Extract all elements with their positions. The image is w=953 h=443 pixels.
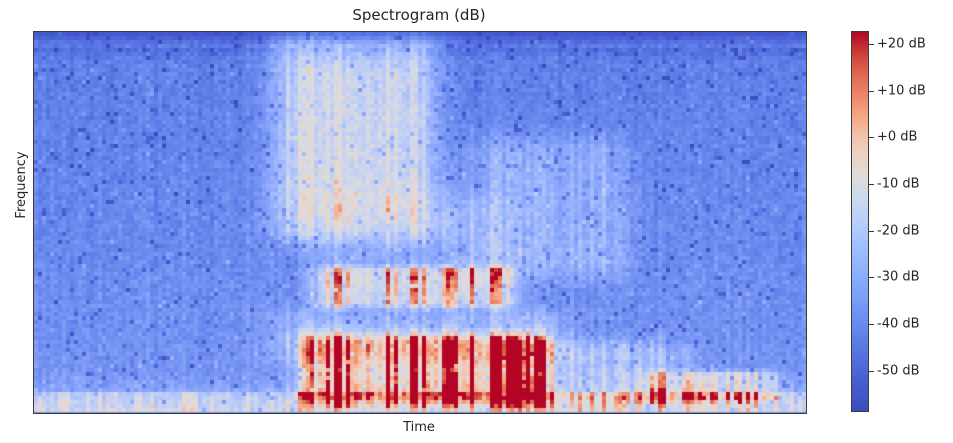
colorbar-tick-mark [869,44,874,45]
colorbar-tick-mark [869,231,874,232]
colorbar-tick-label: +20 dB [877,38,926,51]
plot-area [33,31,807,414]
spectrogram-figure: Spectrogram (dB) Time Frequency +20 dB+1… [0,0,953,443]
colorbar-tick-label: +0 dB [877,131,917,144]
colorbar-tick-label: +10 dB [877,85,926,98]
colorbar-tick-group: +20 dB+10 dB+0 dB-10 dB-20 dB-30 dB-40 d… [851,31,953,412]
colorbar-tick-label: -50 dB [877,365,920,378]
colorbar-tick-label: -20 dB [877,225,920,238]
spectrogram-heatmap [34,32,806,413]
colorbar-tick-mark [869,91,874,92]
page-title: Spectrogram (dB) [33,3,805,27]
colorbar: +20 dB+10 dB+0 dB-10 dB-20 dB-30 dB-40 d… [851,31,953,412]
y-axis-label: Frequency [14,130,30,240]
colorbar-tick-label: -10 dB [877,178,920,191]
colorbar-tick-mark [869,137,874,138]
x-axis-label: Time [33,418,805,438]
colorbar-tick-mark [869,277,874,278]
colorbar-tick-mark [869,184,874,185]
colorbar-tick-mark [869,371,874,372]
colorbar-tick-label: -40 dB [877,318,920,331]
colorbar-tick-mark [869,324,874,325]
colorbar-tick-label: -30 dB [877,271,920,284]
